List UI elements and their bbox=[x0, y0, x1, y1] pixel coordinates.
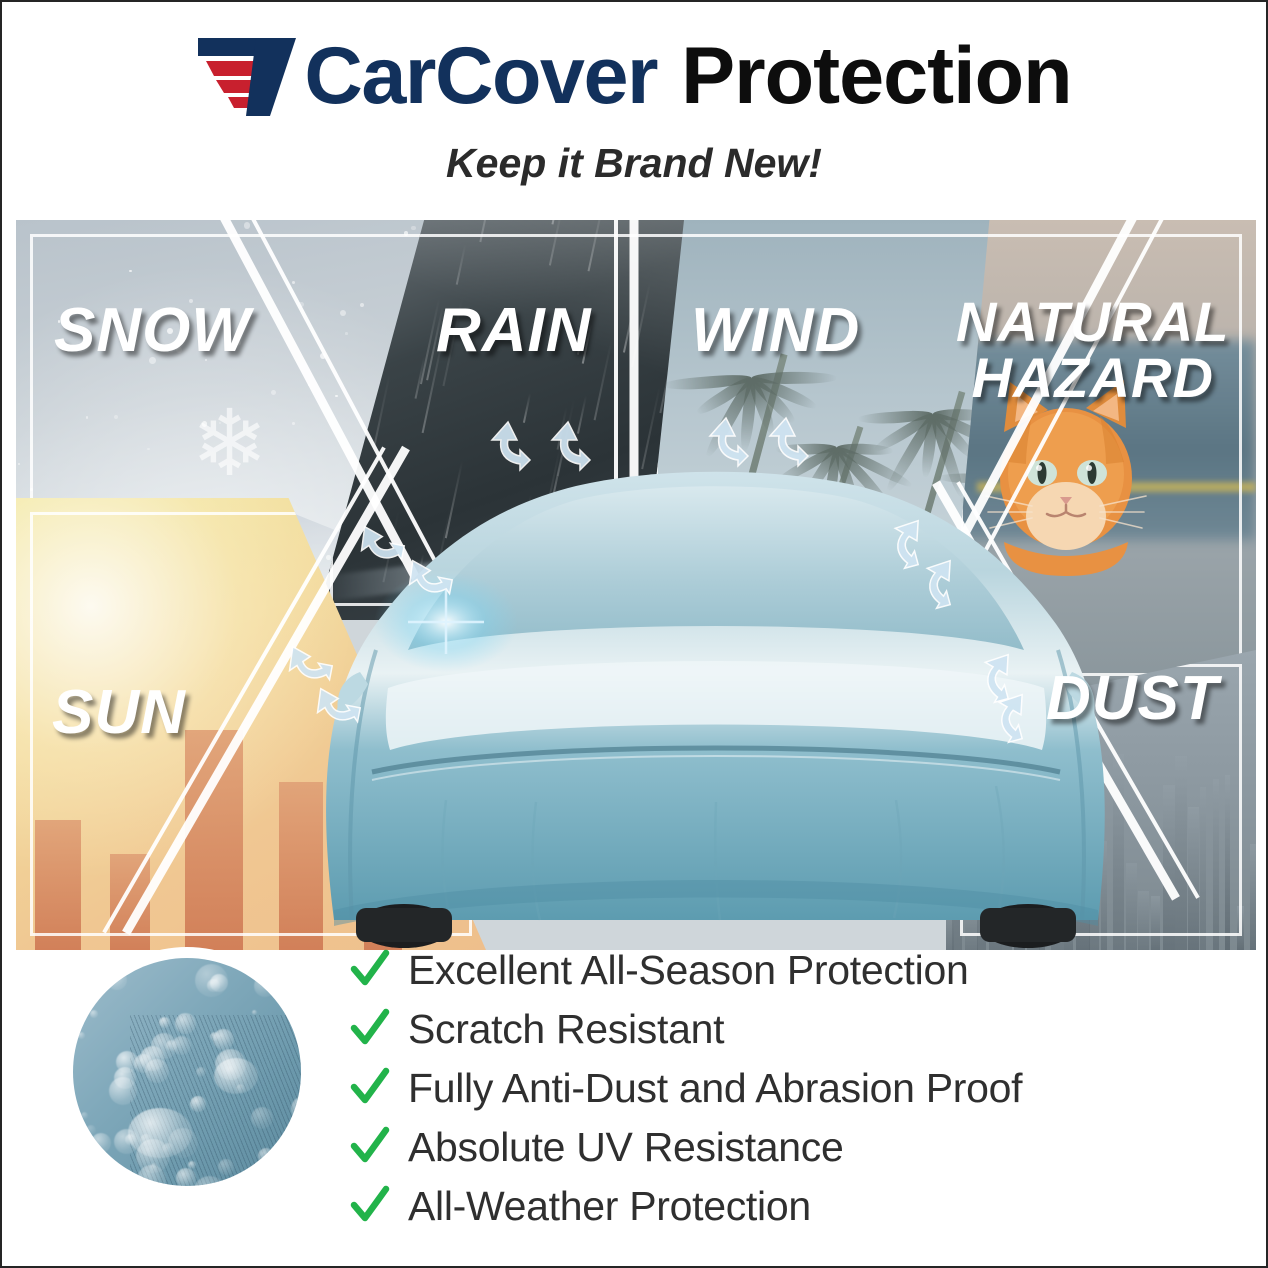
dusty-cityscape bbox=[946, 720, 1256, 950]
panel-label-rain: RAIN bbox=[436, 300, 592, 362]
panel-label-natural-hazard: NATURAL HAZARD bbox=[956, 294, 1229, 406]
product-infographic: CarCover Protection Keep it Brand New! ❄ bbox=[0, 0, 1268, 1268]
feature-row: Scratch Resistant bbox=[350, 1001, 1220, 1057]
features-section: Excellent All-Season ProtectionScratch R… bbox=[62, 942, 1222, 1242]
brand-name-secondary: Protection bbox=[681, 34, 1072, 118]
check-icon bbox=[350, 1185, 390, 1227]
feature-row: Absolute UV Resistance bbox=[350, 1119, 1220, 1175]
check-icon bbox=[350, 1126, 390, 1168]
feature-text: All-Weather Protection bbox=[408, 1183, 811, 1230]
check-icon bbox=[350, 949, 390, 991]
palm-tree-icon bbox=[788, 419, 835, 620]
check-icon bbox=[350, 1067, 390, 1109]
palm-tree-icon bbox=[701, 346, 747, 620]
feature-text: Scratch Resistant bbox=[408, 1006, 724, 1053]
feature-text: Excellent All-Season Protection bbox=[408, 947, 968, 994]
header: CarCover Protection Keep it Brand New! bbox=[2, 28, 1266, 198]
panel-label-sun: SUN bbox=[52, 682, 186, 744]
feature-row: Excellent All-Season Protection bbox=[350, 942, 1220, 998]
feature-text: Fully Anti-Dust and Abrasion Proof bbox=[408, 1065, 1022, 1112]
protection-collage: ❄ bbox=[16, 220, 1256, 950]
brand-name-primary: CarCover bbox=[304, 34, 657, 118]
panel-label-snow: SNOW bbox=[54, 300, 251, 362]
feature-list: Excellent All-Season ProtectionScratch R… bbox=[350, 942, 1220, 1237]
panel-label-dust: DUST bbox=[1046, 668, 1219, 730]
feature-row: Fully Anti-Dust and Abrasion Proof bbox=[350, 1060, 1220, 1116]
check-icon bbox=[350, 1008, 390, 1050]
brand-lockup: CarCover Protection bbox=[2, 28, 1266, 124]
feature-text: Absolute UV Resistance bbox=[408, 1124, 844, 1171]
water-beading-fabric-swatch-icon bbox=[62, 947, 312, 1197]
icarcover-flag-logo-icon bbox=[196, 34, 314, 118]
tagline: Keep it Brand New! bbox=[2, 140, 1266, 187]
panel-label-wind: WIND bbox=[691, 300, 860, 362]
feature-row: All-Weather Protection bbox=[350, 1178, 1220, 1234]
